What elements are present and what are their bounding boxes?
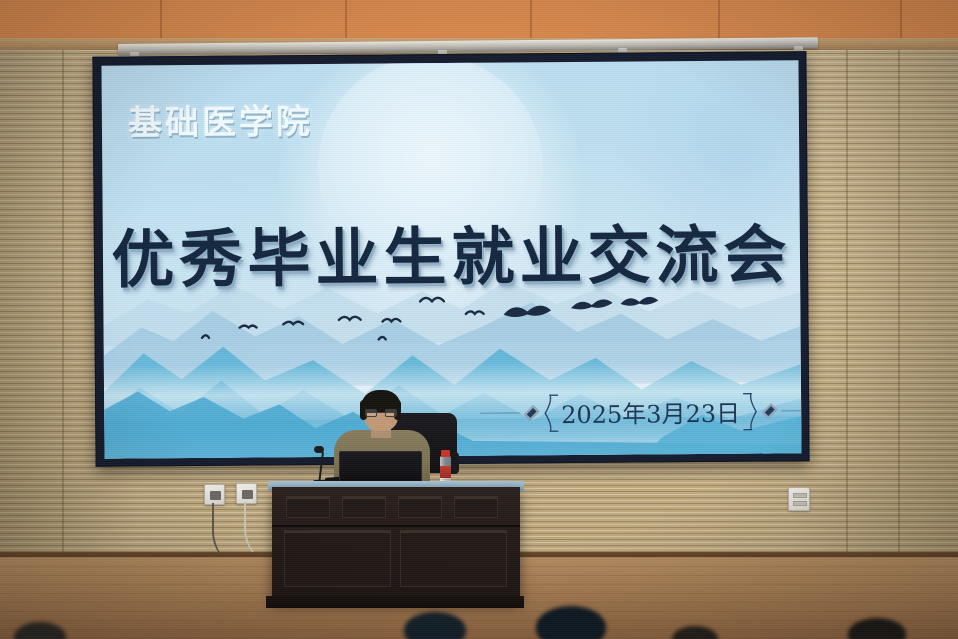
data-outlet-right[interactable] — [236, 483, 257, 504]
power-outlet-left[interactable] — [204, 484, 225, 505]
slide-date-plaque: 2025年3月23日 — [480, 390, 801, 433]
diamond-ornament-icon — [762, 403, 777, 419]
slide-main-title: 优秀毕业生就业交流会 — [103, 204, 801, 300]
bottle-cap-icon — [441, 450, 450, 457]
plaque-rule-right — [781, 410, 802, 411]
slide-canvas: 基础医学院 优秀毕业生就业交流会 2025年3月23日 — [101, 60, 801, 458]
auditorium-photo: 基础医学院 优秀毕业生就业交流会 2025年3月23日 — [0, 0, 958, 639]
light-switch-panel[interactable] — [788, 487, 810, 511]
bottle-label — [440, 466, 451, 478]
podium-plinth — [266, 596, 524, 608]
outlet-port-icon — [242, 490, 253, 499]
bracket-left-icon — [543, 394, 559, 430]
slide-date-text: 2025年3月23日 — [559, 393, 742, 429]
outlet-port-icon — [210, 491, 221, 500]
ceiling-panel-band — [0, 0, 958, 40]
slide-subtitle: 基础医学院 — [128, 94, 313, 144]
lecture-podium — [272, 487, 520, 600]
switch-rocker-icon — [793, 501, 807, 506]
wall-seam — [846, 50, 848, 570]
switch-rocker-icon — [793, 493, 807, 498]
led-display-screen[interactable]: 基础医学院 优秀毕业生就业交流会 2025年3月23日 — [92, 51, 809, 467]
plaque-rule-left — [481, 412, 521, 413]
diamond-ornament-icon — [524, 405, 539, 421]
wall-seam — [62, 50, 64, 570]
eyeglasses-icon — [365, 409, 397, 417]
wall-seam — [898, 50, 900, 570]
bracket-right-icon — [742, 393, 758, 429]
